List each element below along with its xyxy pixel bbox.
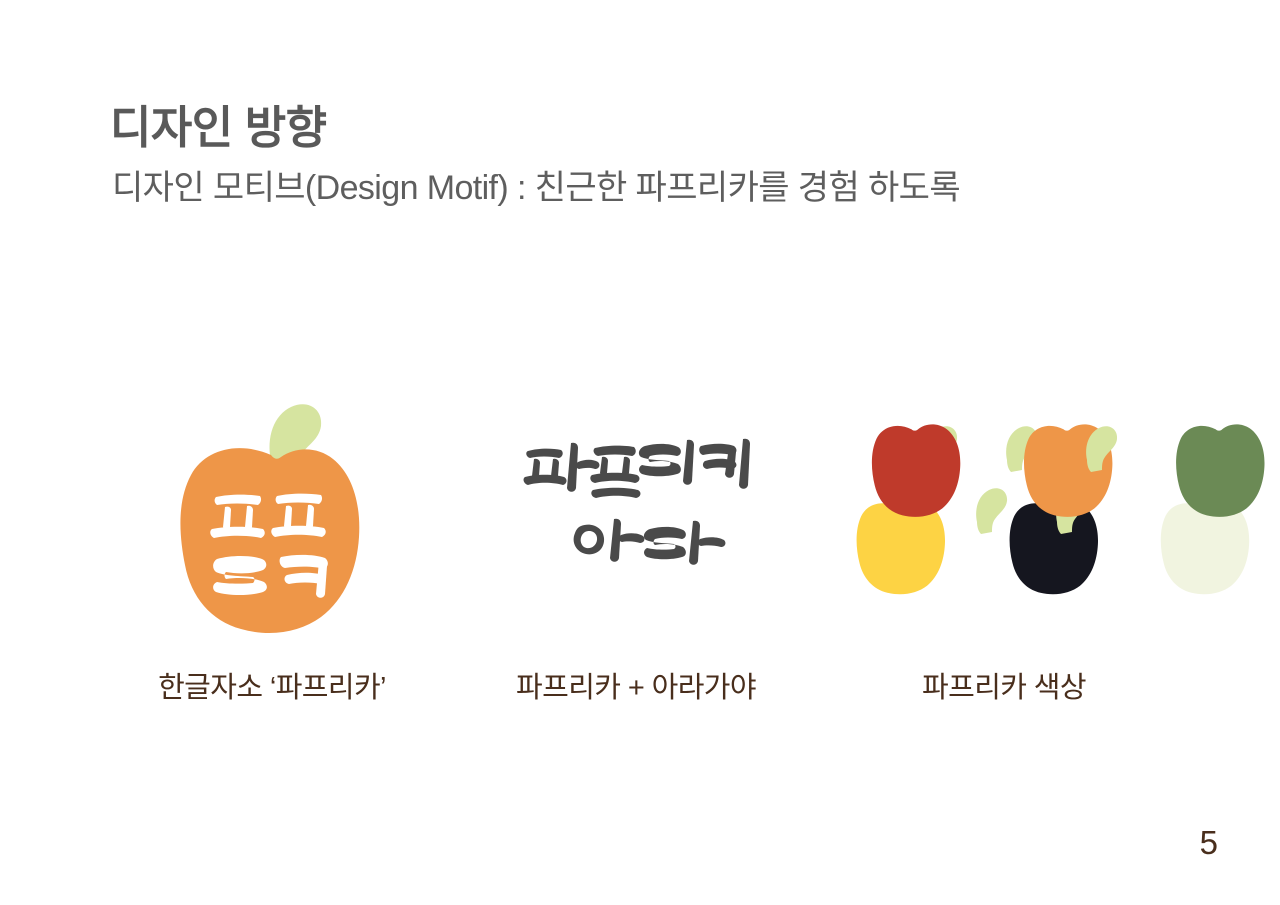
swatch-red <box>872 424 960 516</box>
orange-pepper-icon <box>167 393 377 638</box>
motif-item-color-palette: 파프리카 색상 <box>834 378 1174 708</box>
handwritten-wordmark-icon <box>521 431 751 561</box>
swatch-green <box>1086 424 1264 516</box>
page-title: 디자인 방향 <box>110 104 1180 153</box>
slide-canvas: 디자인 방향 디자인 모티브(Design Motif) : 친근한 파프리카를… <box>0 0 1280 905</box>
motif-item-wordmark: 파프리카 + 아라가야 <box>466 378 806 708</box>
color-palette-illustration <box>834 378 1174 658</box>
page-subtitle: 디자인 모티브(Design Motif) : 친근한 파프리카를 경험 하도록 <box>112 167 1180 210</box>
page-number: 5 <box>1200 826 1218 859</box>
motif-row: 한글자소 ‘파프리카’ <box>96 378 1192 708</box>
handwritten-wordmark-illustration <box>466 378 806 658</box>
hangul-pepper-illustration <box>102 378 442 658</box>
motif-caption-color-palette: 파프리카 색상 <box>922 668 1086 708</box>
motif-caption-hangul-jaso: 한글자소 ‘파프리카’ <box>158 668 386 708</box>
pepper-color-swatches-icon <box>872 419 1136 609</box>
heading-block: 디자인 방향 디자인 모티브(Design Motif) : 친근한 파프리카를… <box>110 104 1180 209</box>
motif-item-hangul-jaso: 한글자소 ‘파프리카’ <box>102 378 442 708</box>
motif-caption-wordmark: 파프리카 + 아라가야 <box>516 668 756 708</box>
